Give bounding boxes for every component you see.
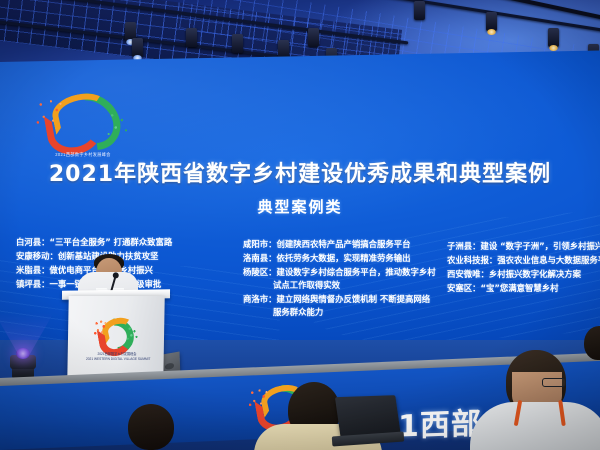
list-item-label: 白河县： <box>16 237 50 247</box>
lower-banner-text: 1西部 <box>398 399 482 446</box>
list-item: 杨陵区：建设数字乡村综合服务平台，推动数字乡村 试点工作取得实效 <box>243 266 436 292</box>
list-item: 洛南县：依托劳务大数据，实现精准劳务输出 <box>243 252 436 265</box>
list-item-label: 安康移动： <box>16 251 58 261</box>
podium-logo-caption-line2: 2021 WESTERN DIGITAL VILLAGE SUMMIT <box>86 357 150 361</box>
list-item-label: 咸阳市： <box>243 239 277 249</box>
list-item-label: 洛南县： <box>243 253 277 263</box>
logo-green-particles <box>105 110 129 138</box>
stage-light-icon <box>232 34 243 53</box>
list-item-text-cont: 服务群众能力 <box>243 306 436 319</box>
list-item: 安塞区：“宝”您满意智慧乡村 <box>447 282 600 295</box>
podium-logo-caption: 2021西部数字乡村发展峰会 2021 WESTERN DIGITAL VILL… <box>86 352 148 362</box>
list-item-label: 米脂县： <box>16 265 50 275</box>
logo-red-particles <box>248 388 269 409</box>
podium-logo-caption-line1: 2021西部数字乡村发展峰会 <box>98 352 137 356</box>
list-item-text: 建设 “数字子洲”，引领乡村振兴 <box>481 241 600 251</box>
list-item-text: 强农农业信息与大数据服务平台 <box>497 255 600 265</box>
list-item-label: 杨陵区： <box>243 267 277 277</box>
logo-green-particles <box>126 326 137 341</box>
stage-light-icon <box>548 28 559 47</box>
list-item-label: 镇坪县： <box>16 279 50 289</box>
stage-light-icon <box>486 12 497 31</box>
list-item-label: 商洛市： <box>243 294 277 304</box>
podium-event-logo <box>96 318 136 352</box>
list-item: 咸阳市：创建陕西农特产品产销搞合服务平台 <box>243 238 436 251</box>
list-item-text: 建设数字乡村综合服务平台，推动数字乡村 <box>277 267 436 277</box>
list-item-text-cont: 试点工作取得实效 <box>243 279 436 292</box>
list-item-label: 农业科技报： <box>447 255 497 265</box>
list-item-label: 安塞区： <box>447 283 481 293</box>
list-item: 农业科技报：强农农业信息与大数据服务平台 <box>447 254 600 267</box>
logo-red-particles <box>35 98 64 129</box>
list-item-text: 创建陕西农特产品产销搞合服务平台 <box>277 239 411 249</box>
stage-light-icon <box>414 1 425 20</box>
glasses-icon <box>542 378 566 387</box>
list-item: 商洛市：建立网络舆情督办反馈机制 不断提高网络 服务群众能力 <box>243 293 436 319</box>
page-subtitle: 典型案例类 <box>0 196 600 217</box>
audience-head <box>128 404 174 450</box>
screen-column-middle: 咸阳市：创建陕西农特产品产销搞合服务平台 洛南县：依托劳务大数据，实现精准劳务输… <box>243 238 436 320</box>
stage-light-icon <box>132 38 143 57</box>
list-item-text: “三平台全服务” 打通群众致富路 <box>50 237 173 247</box>
page-title: 2021年陕西省数字乡村建设优秀成果和典型案例 <box>0 156 600 188</box>
list-item: 白河县：“三平台全服务” 打通群众致富路 <box>16 236 172 249</box>
conference-photo: 2021西部数字乡村发展峰会 2021年陕西省数字乡村建设优秀成果和典型案例 典… <box>0 0 600 450</box>
list-item-text: 建立网络舆情督办反馈机制 不断提高网络 <box>277 294 431 304</box>
logo-red-particles <box>94 320 108 336</box>
stage-light-icon <box>308 28 319 47</box>
audience-shoulders <box>470 402 600 450</box>
list-item: 西安微唯：乡村振兴数字化解决方案 <box>447 268 600 281</box>
screen-column-right: 子洲县：建设 “数字子洲”，引领乡村振兴 农业科技报：强农农业信息与大数据服务平… <box>447 240 600 296</box>
list-item-label: 子洲县： <box>447 241 481 251</box>
stage-light-icon <box>186 28 197 47</box>
list-item-label: 西安微唯： <box>447 269 489 279</box>
list-item-text: 乡村振兴数字化解决方案 <box>489 269 581 279</box>
list-item: 子洲县：建设 “数字子洲”，引领乡村振兴 <box>447 240 600 253</box>
event-logo: 2021西部数字乡村发展峰会 <box>40 94 126 158</box>
list-item-text: 依托劳务大数据，实现精准劳务输出 <box>277 253 411 263</box>
list-item-text: “宝”您满意智慧乡村 <box>481 283 559 293</box>
